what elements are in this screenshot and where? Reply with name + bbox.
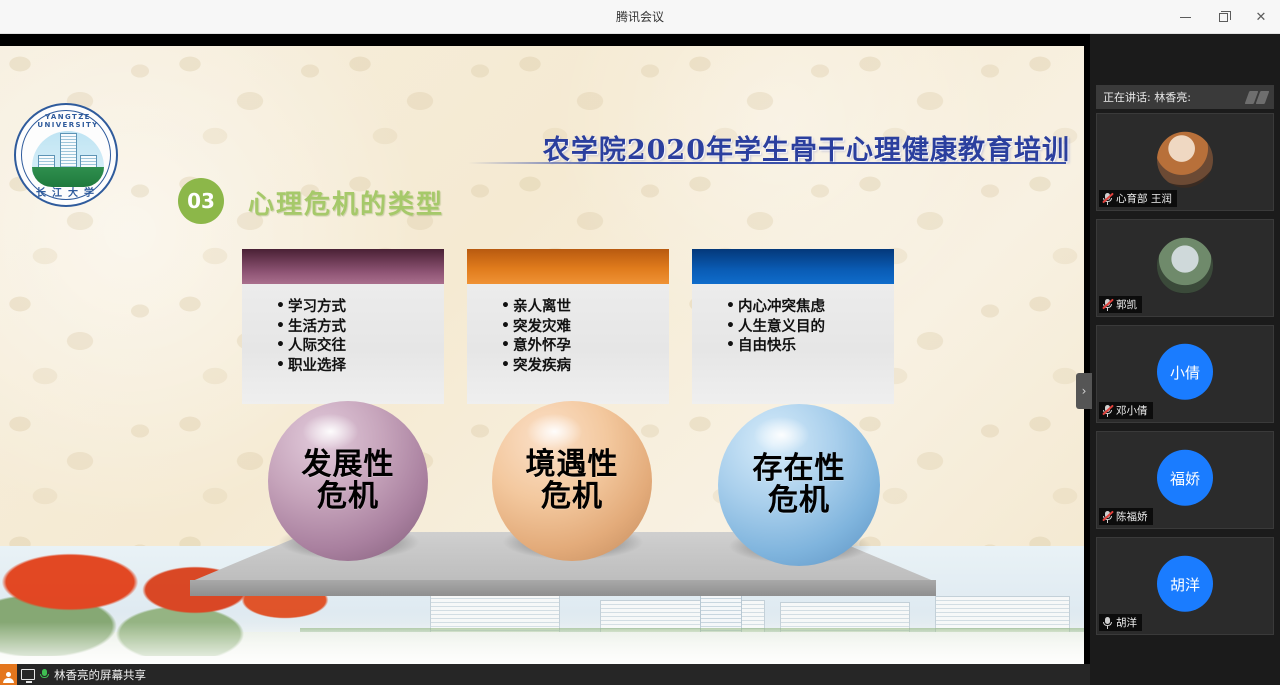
sphere-label-line2: 危机 [317,479,379,514]
shared-screen-region[interactable]: YANGTZE UNIVERSITY 长江大学 农学院2020年学生骨干心理健康… [0,34,1090,685]
list-item: 自由快乐 [726,337,894,357]
sphere-label-line1: 存在性 [753,451,846,486]
sphere-label-line2: 危机 [768,483,830,518]
section-heading: 心理危机的类型 [248,184,444,221]
crisis-sphere-1: 发展性 危机 [268,401,428,561]
list-item: 职业选择 [276,357,444,377]
close-icon: ✕ [1256,10,1267,25]
window-title-bar: 腾讯会议 ✕ [0,0,1280,34]
list-item: 意外怀孕 [501,337,669,357]
panel-collapse-button[interactable]: › [1076,373,1092,409]
microphone-icon [39,668,50,682]
restore-button[interactable] [1204,0,1242,34]
participant-name-bar: 心育部 王润 [1099,190,1177,207]
logo-chinese-text: 长江大学 [16,184,118,199]
mic-icon [1102,616,1113,629]
share-letterbox-top [0,34,1090,46]
card-list-2: 亲人离世 突发灾难 意外怀孕 突发疾病 [501,298,669,376]
monitor-icon [21,669,35,680]
participant-name: 邓小倩 [1116,403,1148,418]
mic-muted-icon [1102,510,1113,523]
list-item: 突发灾难 [501,318,669,338]
avatar: 胡洋 [1157,556,1213,612]
participant-name-bar: 邓小倩 [1099,402,1153,419]
card-header-1 [242,249,444,284]
participant-name-bar: 陈福娇 [1099,508,1153,525]
sphere-label-1: 发展性 危机 [302,449,395,514]
mic-muted-icon [1102,404,1113,417]
screen-share-status-bar: 林香亮的屏幕共享 [0,664,1090,685]
card-list-3: 内心冲突焦虑 人生意义目的 自由快乐 [726,298,894,357]
list-item: 人际交往 [276,337,444,357]
list-item: 亲人离世 [501,298,669,318]
active-speaker-label: 正在讲话: 林香亮: [1103,89,1191,105]
avatar [1157,132,1213,188]
sphere-label-line2: 危机 [541,479,603,514]
list-item: 学习方式 [276,298,444,318]
card-body-3: 内心冲突焦虑 人生意义目的 自由快乐 [692,284,894,404]
window-controls: ✕ [1166,0,1280,34]
participant-tile[interactable]: 心育部 王润 [1096,113,1274,211]
window-title: 腾讯会议 [0,0,1280,34]
avatar: 福娇 [1157,450,1213,506]
crisis-card-3: 内心冲突焦虑 人生意义目的 自由快乐 [692,249,894,404]
minimize-button[interactable] [1166,0,1204,34]
campus-mist [0,622,1084,666]
sphere-label-2: 境遇性 危机 [526,449,619,514]
sphere-label-line1: 发展性 [302,447,395,482]
minimize-icon [1180,17,1191,18]
title-underline [468,162,1066,164]
active-speaker-bar: 正在讲话: 林香亮: [1096,85,1274,109]
participant-name: 郭凯 [1116,297,1137,312]
participant-tile[interactable]: 福娇 陈福娇 [1096,431,1274,529]
crisis-card-2: 亲人离世 突发灾难 意外怀孕 突发疾病 [467,249,669,404]
crisis-card-1: 学习方式 生活方式 人际交往 职业选择 [242,249,444,404]
screen-share-label: 林香亮的屏幕共享 [54,667,146,683]
presenter-icon [0,664,17,685]
participant-name: 胡洋 [1116,615,1137,630]
mic-arc [40,674,49,678]
platform-front [190,580,936,596]
list-item: 生活方式 [276,318,444,338]
card-header-2 [467,249,669,284]
list-item: 突发疾病 [501,357,669,377]
sphere-label-3: 存在性 危机 [753,453,846,518]
audio-wave-icon [1247,91,1267,104]
presentation-slide: YANGTZE UNIVERSITY 长江大学 农学院2020年学生骨干心理健康… [0,46,1084,666]
card-body-2: 亲人离世 突发灾难 意外怀孕 突发疾病 [467,284,669,404]
logo-english-text: YANGTZE UNIVERSITY [16,113,118,129]
mic-muted-icon [1102,192,1113,205]
university-logo: YANGTZE UNIVERSITY 长江大学 [14,103,118,207]
avatar: 小倩 [1157,344,1213,400]
crisis-sphere-2: 境遇性 危机 [492,401,652,561]
participant-name: 陈福娇 [1116,509,1148,524]
crisis-sphere-3: 存在性 危机 [718,404,880,566]
participant-name: 心育部 王润 [1116,191,1172,206]
section-number-badge: 03 [178,178,224,224]
card-header-3 [692,249,894,284]
card-list-1: 学习方式 生活方式 人际交往 职业选择 [276,298,444,376]
restore-icon [1219,13,1228,22]
list-item: 人生意义目的 [726,318,894,338]
list-item: 内心冲突焦虑 [726,298,894,318]
participant-tile[interactable]: 郭凯 [1096,219,1274,317]
participant-name-bar: 胡洋 [1099,614,1142,631]
card-body-1: 学习方式 生活方式 人际交往 职业选择 [242,284,444,404]
mic-muted-icon [1102,298,1113,311]
person-glyph [6,672,11,677]
participant-tile[interactable]: 胡洋 胡洋 [1096,537,1274,635]
sphere-label-line1: 境遇性 [526,447,619,482]
participants-panel: 正在讲话: 林香亮: 心育部 王润 郭凯 小倩 邓小倩 福娇 [1090,34,1280,685]
participant-tile[interactable]: 小倩 邓小倩 [1096,325,1274,423]
chevron-right-icon: › [1082,384,1087,398]
close-button[interactable]: ✕ [1242,0,1280,34]
avatar [1157,238,1213,294]
meeting-body: YANGTZE UNIVERSITY 长江大学 农学院2020年学生骨干心理健康… [0,34,1280,685]
participant-name-bar: 郭凯 [1099,296,1142,313]
